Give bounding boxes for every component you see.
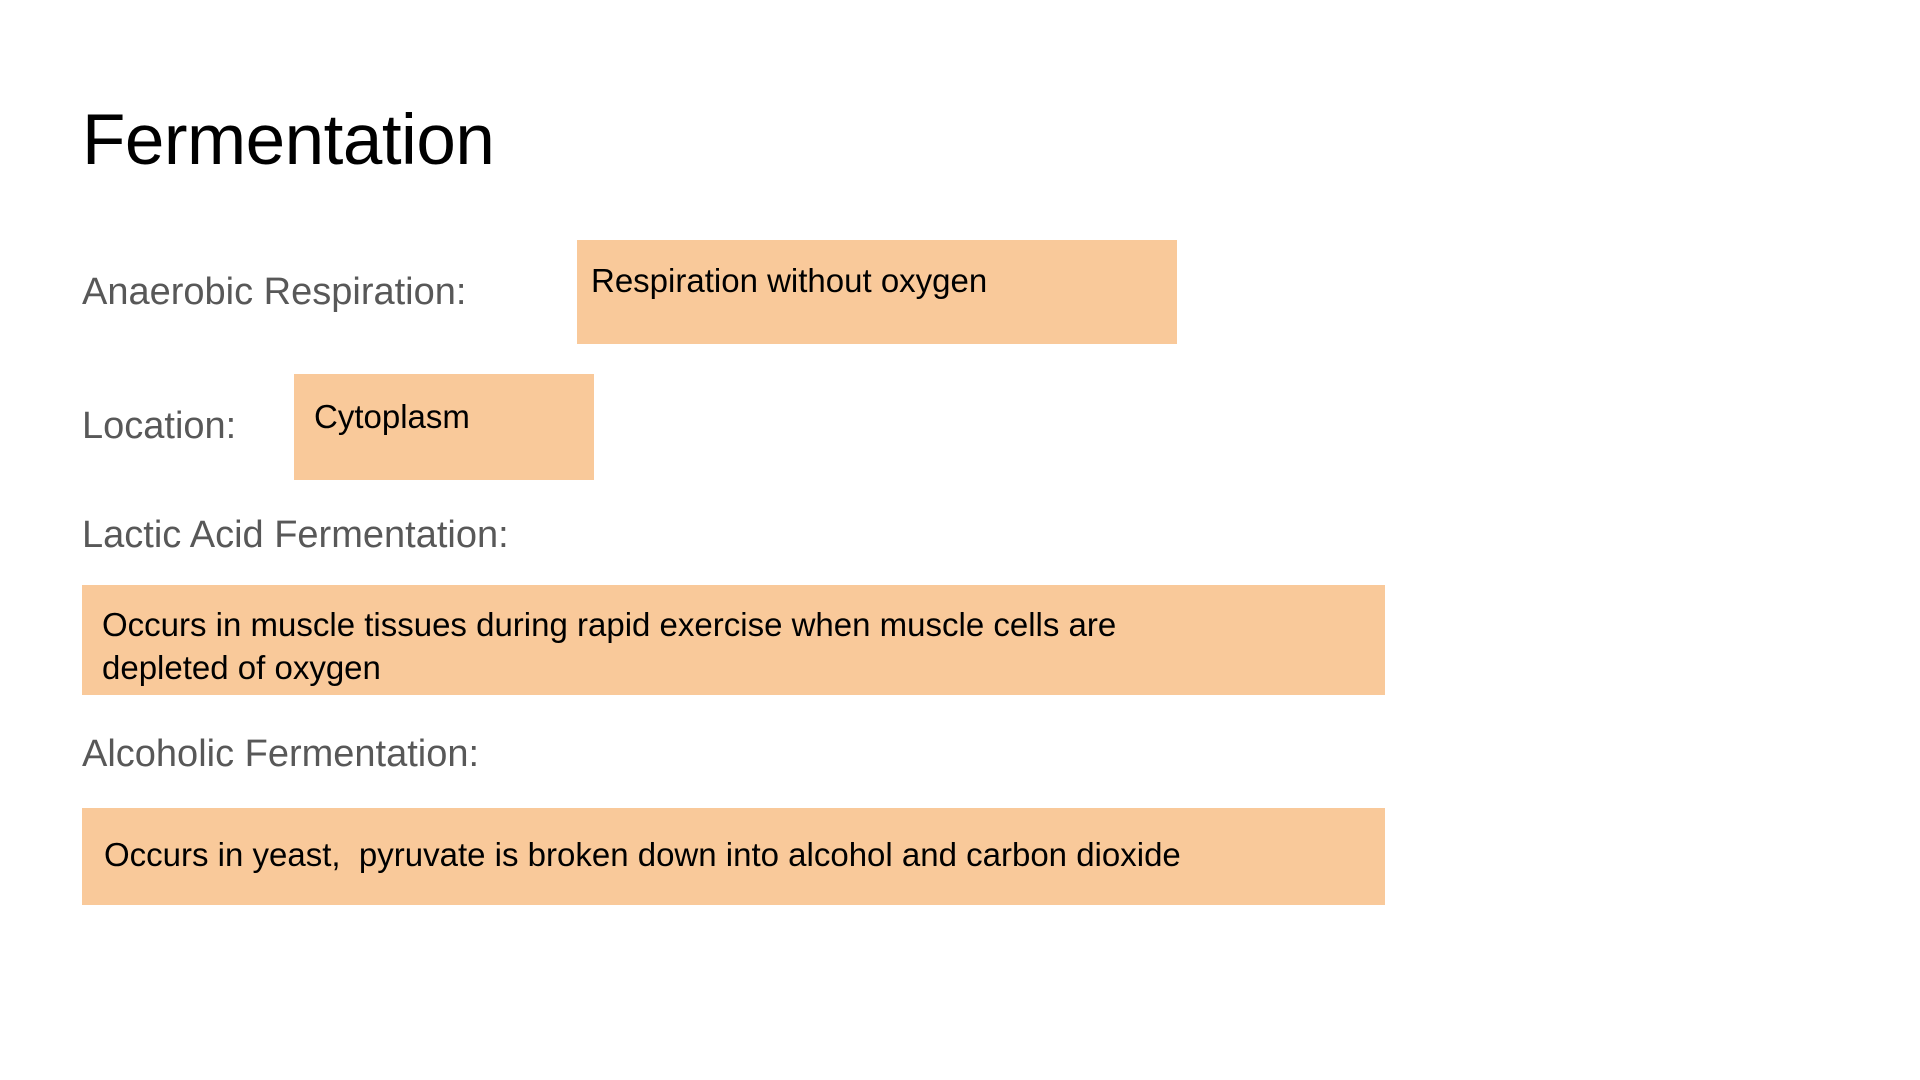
highlight-anaerobic-respiration-definition: Respiration without oxygen [577,240,1177,344]
label-lactic-acid-fermentation: Lactic Acid Fermentation: [82,513,509,558]
highlight-lactic-acid-line-2: depleted of oxygen [102,647,1367,690]
label-anaerobic-respiration: Anaerobic Respiration: [82,270,466,315]
page-title: Fermentation [82,104,494,179]
label-alcoholic-fermentation: Alcoholic Fermentation: [82,732,479,777]
presentation-slide: Fermentation Anaerobic Respiration: Resp… [0,0,1920,1080]
highlight-location-value: Cytoplasm [294,374,594,480]
highlight-lactic-acid-description: Occurs in muscle tissues during rapid ex… [82,585,1385,695]
label-location: Location: [82,404,236,449]
highlight-lactic-acid-line-1: Occurs in muscle tissues during rapid ex… [102,606,1116,643]
highlight-alcoholic-description: Occurs in yeast, pyruvate is broken down… [82,808,1385,905]
